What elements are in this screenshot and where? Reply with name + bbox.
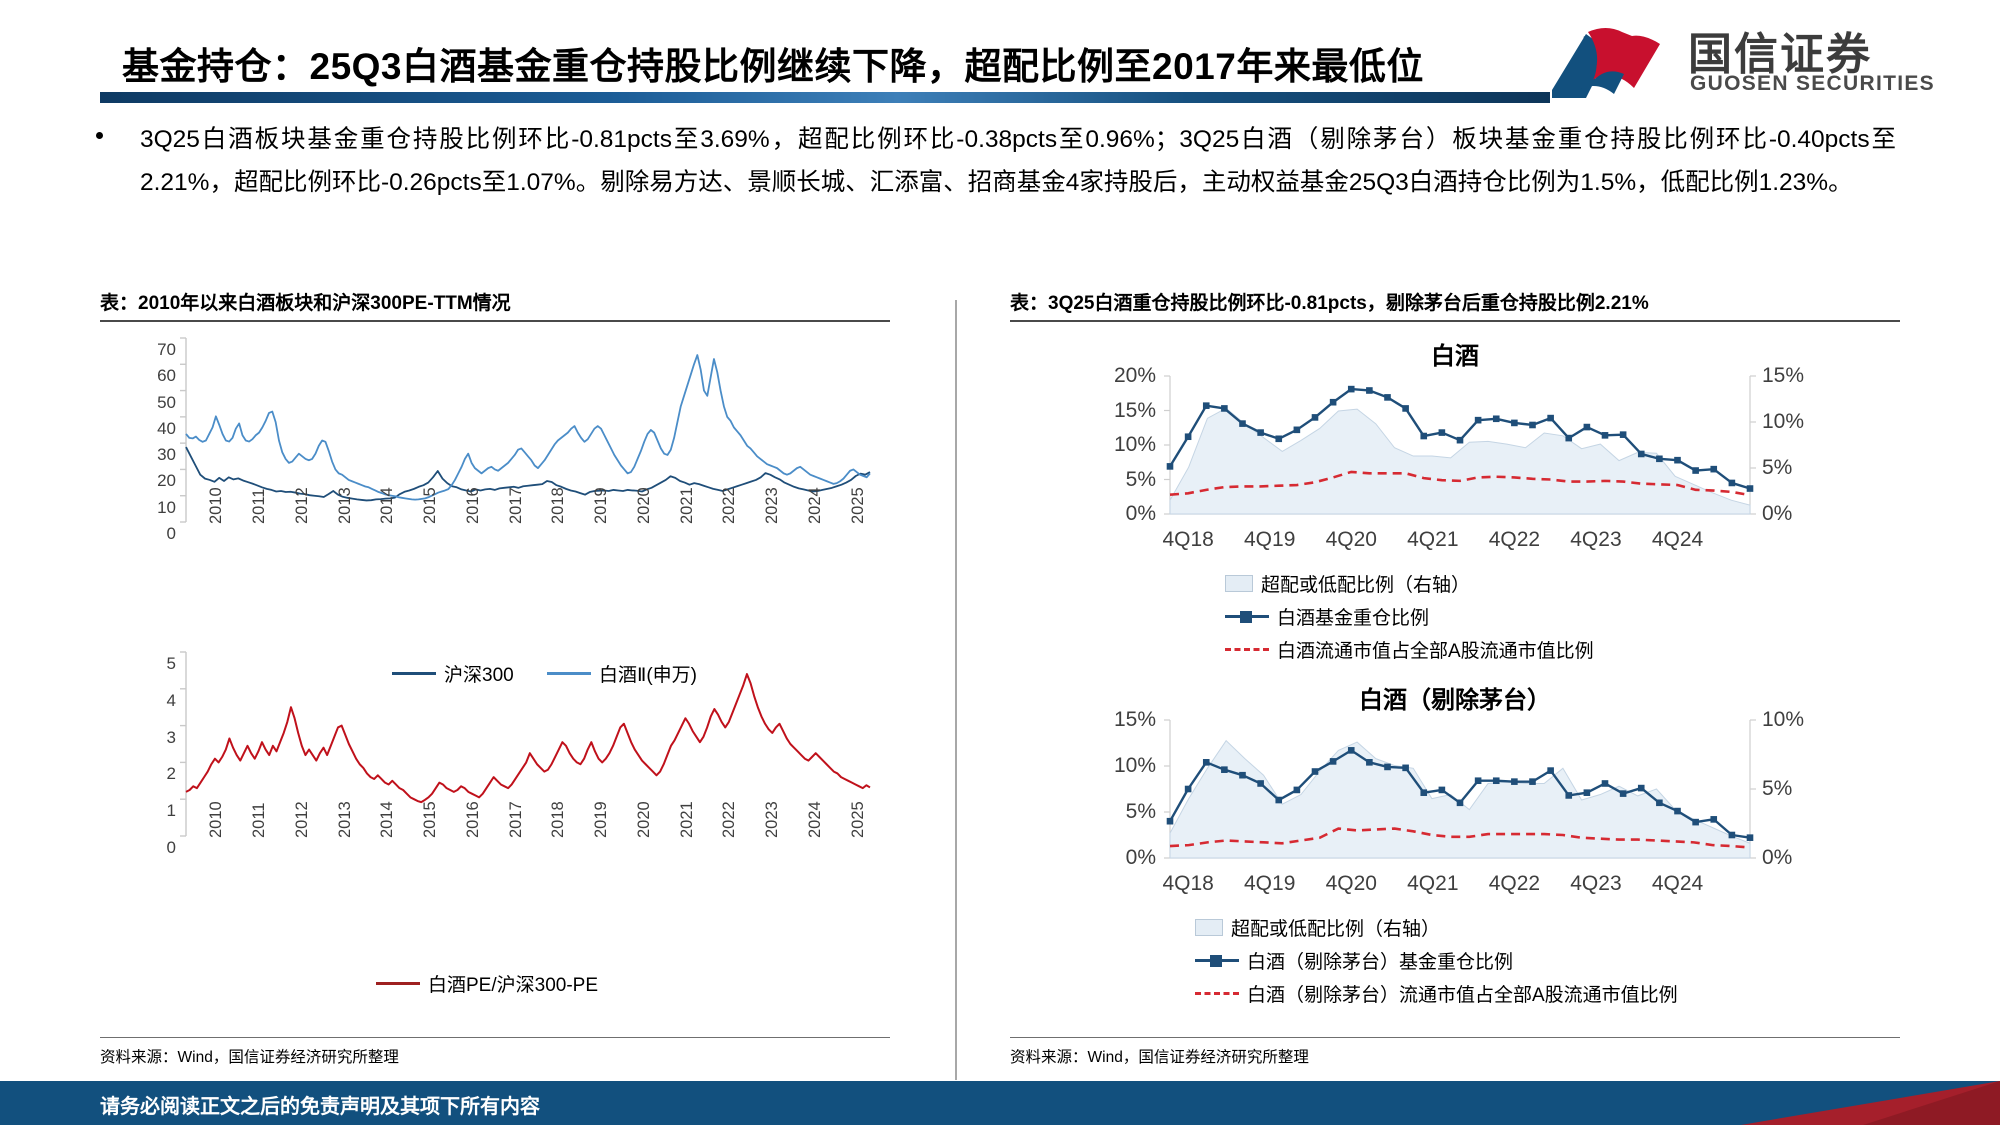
pe-ratio-swatch-icon <box>376 982 420 985</box>
y-tick-pe: 30 <box>120 445 176 465</box>
x-tick-quarter: 4Q23 <box>1570 872 1621 896</box>
y-tick-right: 10% <box>1762 410 1862 434</box>
company-logo: 国信证券 GUOSEN SECURITIES <box>1548 18 1978 102</box>
y-tick-left: 0% <box>1070 502 1156 526</box>
x-tick-ratio: 2014 <box>378 801 397 838</box>
y-tick-left: 20% <box>1070 364 1156 388</box>
logo-text-en: GUOSEN SECURITIES <box>1690 72 1935 96</box>
y-tick-left: 15% <box>1070 708 1156 732</box>
legend-bjx-area: 超配或低配比例（右轴） <box>1195 914 1440 941</box>
holding-line-swatch-icon-2 <box>1195 955 1239 967</box>
legend-bjx-mktcap: 白酒（剔除茅台）流通市值占全部A股流通市值比例 <box>1195 980 1678 1007</box>
header-divider <box>100 92 1550 103</box>
chart-baijiu-ex-axes: 0%5%10%15%0%5%10%4Q184Q194Q204Q214Q224Q2… <box>1010 706 1900 921</box>
x-tick-quarter: 4Q20 <box>1326 872 1377 896</box>
y-tick-pe: 50 <box>120 393 176 413</box>
x-tick-quarter: 4Q23 <box>1570 528 1621 552</box>
x-tick-pe: 2020 <box>635 487 654 524</box>
x-tick-quarter: 4Q19 <box>1244 872 1295 896</box>
bullet-dot-icon <box>96 132 103 139</box>
y-tick-ratio: 5 <box>120 654 176 674</box>
chart-pe-ratio-xaxis: 2010201120122013201420152016201720182019… <box>100 832 890 912</box>
x-tick-quarter: 4Q21 <box>1407 528 1458 552</box>
x-tick-quarter: 4Q24 <box>1652 872 1703 896</box>
x-tick-ratio: 2020 <box>635 801 654 838</box>
legend-pe-ratio: 白酒PE/沪深300-PE <box>376 970 598 997</box>
x-tick-ratio: 2025 <box>849 801 868 838</box>
y-tick-pe: 10 <box>120 498 176 518</box>
x-tick-ratio: 2013 <box>336 801 355 838</box>
x-tick-pe: 2015 <box>421 487 440 524</box>
x-tick-pe: 2021 <box>678 487 697 524</box>
overweight-area-swatch-icon-2 <box>1195 919 1223 936</box>
x-tick-ratio: 2023 <box>763 801 782 838</box>
legend-label-bj-mktcap: 白酒流通市值占全部A股流通市值比例 <box>1277 636 1594 663</box>
x-tick-ratio: 2017 <box>507 801 526 838</box>
legend-label-bj-area: 超配或低配比例（右轴） <box>1261 570 1470 597</box>
x-tick-pe: 2025 <box>849 487 868 524</box>
x-tick-quarter: 4Q22 <box>1489 528 1540 552</box>
x-tick-pe: 2013 <box>336 487 355 524</box>
mktcap-dashed-swatch-icon-2 <box>1195 988 1239 1000</box>
y-tick-right: 0% <box>1762 846 1862 870</box>
x-tick-ratio: 2024 <box>806 801 825 838</box>
x-tick-quarter: 4Q18 <box>1162 872 1213 896</box>
left-panel-title: 表：2010年以来白酒板块和沪深300PE-TTM情况 <box>100 288 890 320</box>
right-panel-body: 白酒 0%5%10%15%20%0%5%10%15%4Q184Q194Q204Q… <box>1010 322 1900 1037</box>
y-tick-left: 5% <box>1070 800 1156 824</box>
overweight-area-swatch-icon <box>1225 575 1253 592</box>
chart-baijiu-axes: 0%5%10%15%20%0%5%10%15%4Q184Q194Q204Q214… <box>1010 362 1900 577</box>
holding-line-swatch-icon <box>1225 611 1269 623</box>
right-panel-title: 表：3Q25白酒重仓持股比例环比-0.81pcts，剔除茅台后重仓持股比例2.2… <box>1010 288 1900 320</box>
right-panel: 表：3Q25白酒重仓持股比例环比-0.81pcts，剔除茅台后重仓持股比例2.2… <box>1010 288 1900 1067</box>
x-tick-quarter: 4Q19 <box>1244 528 1295 552</box>
legend-label-bj-holding: 白酒基金重仓比例 <box>1277 603 1429 630</box>
x-tick-pe: 2024 <box>806 487 825 524</box>
x-tick-quarter: 4Q18 <box>1162 528 1213 552</box>
x-tick-pe: 2010 <box>207 487 226 524</box>
x-tick-pe: 2011 <box>250 489 269 524</box>
guosen-logo-icon <box>1548 20 1668 98</box>
x-tick-ratio: 2021 <box>678 801 697 838</box>
y-tick-left: 10% <box>1070 433 1156 457</box>
x-tick-ratio: 2019 <box>592 801 611 838</box>
x-tick-quarter: 4Q24 <box>1652 528 1703 552</box>
y-tick-ratio: 3 <box>120 728 176 748</box>
bullet-paragraph: 3Q25白酒板块基金重仓持股比例环比-0.81pcts至3.69%，超配比例环比… <box>96 118 1896 204</box>
left-panel-source: 资料来源：Wind，国信证券经济研究所整理 <box>100 1038 890 1067</box>
legend-bj-holding: 白酒基金重仓比例 <box>1225 603 1429 630</box>
y-tick-right: 10% <box>1762 708 1862 732</box>
x-tick-pe: 2012 <box>293 487 312 524</box>
page-title: 基金持仓：25Q3白酒基金重仓持股比例继续下降，超配比例至2017年来最低位 <box>122 36 1542 90</box>
y-tick-right: 15% <box>1762 364 1862 388</box>
x-tick-ratio: 2015 <box>421 801 440 838</box>
x-tick-quarter: 4Q20 <box>1326 528 1377 552</box>
x-tick-pe: 2023 <box>763 487 782 524</box>
chart-pe-ttm-xaxis: 2010201120122013201420152016201720182019… <box>100 518 890 598</box>
panel-divider <box>955 300 957 1080</box>
y-tick-left: 15% <box>1070 399 1156 423</box>
y-tick-right: 5% <box>1762 456 1862 480</box>
y-tick-pe: 20 <box>120 471 176 491</box>
x-tick-quarter: 4Q22 <box>1489 872 1540 896</box>
x-tick-pe: 2014 <box>378 487 397 524</box>
legend-bjx-holding: 白酒（剔除茅台）基金重仓比例 <box>1195 947 1513 974</box>
legend-label-bjx-mktcap: 白酒（剔除茅台）流通市值占全部A股流通市值比例 <box>1247 980 1678 1007</box>
slide-root: 基金持仓：25Q3白酒基金重仓持股比例继续下降，超配比例至2017年来最低位 国… <box>0 0 2000 1125</box>
x-tick-ratio: 2022 <box>720 801 739 838</box>
x-tick-ratio: 2018 <box>549 801 568 838</box>
legend-label-bjx-holding: 白酒（剔除茅台）基金重仓比例 <box>1247 947 1513 974</box>
bullet-text: 3Q25白酒板块基金重仓持股比例环比-0.81pcts至3.69%，超配比例环比… <box>140 118 1896 204</box>
x-tick-ratio: 2011 <box>250 803 269 838</box>
y-tick-right: 0% <box>1762 502 1862 526</box>
right-panel-source: 资料来源：Wind，国信证券经济研究所整理 <box>1010 1038 1900 1067</box>
y-tick-ratio: 1 <box>120 801 176 821</box>
footer-bar: 请务必阅读正文之后的免责声明及其项下所有内容 <box>0 1081 2000 1125</box>
y-tick-right: 5% <box>1762 777 1862 801</box>
left-panel-body: 010203040506070 201020112012201320142015… <box>100 322 890 1037</box>
y-tick-left: 10% <box>1070 754 1156 778</box>
y-tick-pe: 70 <box>120 340 176 360</box>
y-tick-pe: 60 <box>120 366 176 386</box>
x-tick-pe: 2017 <box>507 487 526 524</box>
x-tick-ratio: 2010 <box>207 801 226 838</box>
x-tick-ratio: 2016 <box>464 801 483 838</box>
x-tick-pe: 2022 <box>720 487 739 524</box>
x-tick-quarter: 4Q21 <box>1407 872 1458 896</box>
legend-bj-area: 超配或低配比例（右轴） <box>1225 570 1470 597</box>
legend-label-bjx-area: 超配或低配比例（右轴） <box>1231 914 1440 941</box>
y-tick-ratio: 2 <box>120 764 176 784</box>
y-tick-left: 5% <box>1070 468 1156 492</box>
x-tick-pe: 2016 <box>464 487 483 524</box>
y-tick-pe: 40 <box>120 419 176 439</box>
x-tick-ratio: 2012 <box>293 801 312 838</box>
x-tick-pe: 2019 <box>592 487 611 524</box>
legend-label-pe-ratio: 白酒PE/沪深300-PE <box>428 970 598 997</box>
mktcap-dashed-swatch-icon <box>1225 644 1269 656</box>
y-tick-ratio: 4 <box>120 691 176 711</box>
y-tick-left: 0% <box>1070 846 1156 870</box>
left-panel: 表：2010年以来白酒板块和沪深300PE-TTM情况 010203040506… <box>100 288 890 1067</box>
x-tick-pe: 2018 <box>549 487 568 524</box>
legend-bj-mktcap: 白酒流通市值占全部A股流通市值比例 <box>1225 636 1594 663</box>
footer-disclaimer: 请务必阅读正文之后的免责声明及其项下所有内容 <box>100 1090 540 1119</box>
